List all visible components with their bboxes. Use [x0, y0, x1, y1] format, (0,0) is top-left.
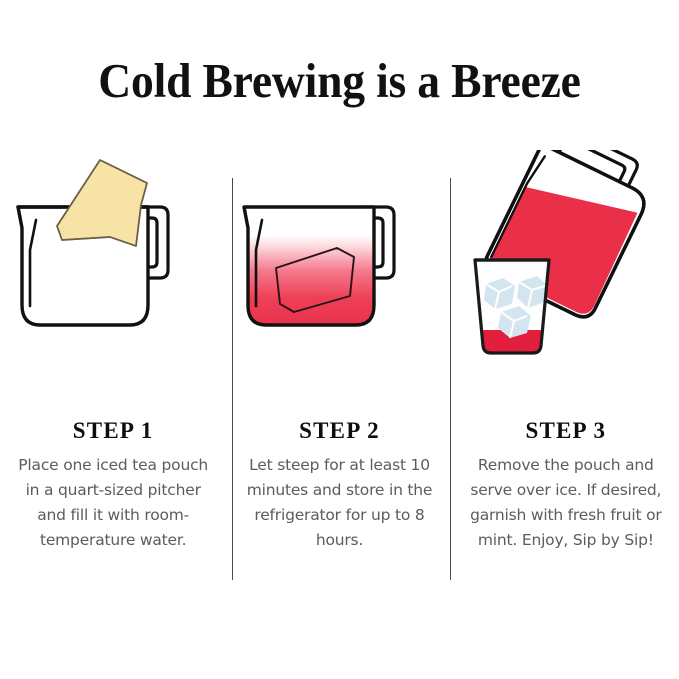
step-3-body: Remove the pouch and serve over ice. If … [463, 453, 669, 553]
step-2-heading: STEP 2 [299, 418, 380, 444]
page-title: Cold Brewing is a Breeze [24, 52, 655, 110]
cold-brew-infographic: Cold Brewing is a Breeze [0, 0, 679, 679]
step-column-1: STEP 1 Place one iced tea pouch in a qua… [0, 150, 226, 600]
step-1-body: Place one iced tea pouch in a quart-size… [10, 453, 216, 553]
pitcher-icon [244, 207, 394, 330]
step-3-heading: STEP 3 [525, 418, 606, 444]
tea-liquid [244, 235, 378, 330]
step-1-illustration [0, 150, 226, 388]
step-2-illustration [226, 150, 452, 388]
step-1-heading: STEP 1 [73, 418, 154, 444]
step-2-body: Let steep for at least 10 minutes and st… [236, 453, 442, 553]
steps-container: STEP 1 Place one iced tea pouch in a qua… [0, 150, 679, 600]
tea-pouch-icon [57, 160, 147, 246]
step-3-illustration [453, 150, 679, 388]
step-column-2: STEP 2 Let steep for at least 10 minutes… [226, 150, 452, 600]
glass-icon [475, 260, 549, 356]
step-column-3: STEP 3 Remove the pouch and serve over i… [453, 150, 679, 600]
